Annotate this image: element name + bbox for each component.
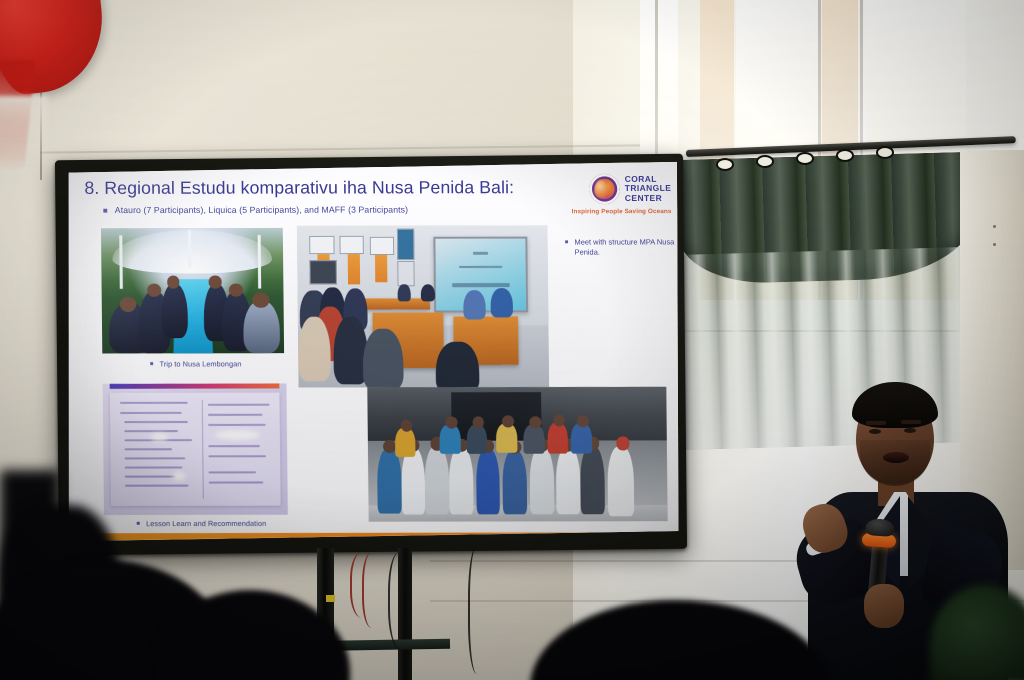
meeting-attendee — [363, 329, 404, 387]
side-note: ■ Meet with structure MPA Nusa Penida. — [565, 237, 681, 257]
notes-caption-text: Lesson Learn and Recommendation — [146, 519, 266, 528]
logo-tagline: Inspiring People Saving Oceans — [572, 208, 672, 215]
power-cable-black — [388, 552, 416, 648]
notes-line — [124, 475, 175, 477]
caption-bullet-icon: ■ — [136, 521, 140, 527]
notes-column-divider — [201, 400, 203, 499]
wall-poster — [340, 235, 365, 253]
group-member — [502, 450, 527, 515]
slide-accent-bar — [66, 532, 681, 540]
group-member-head — [445, 417, 457, 429]
wall-mark-1 — [993, 225, 996, 228]
group-member — [377, 449, 402, 514]
group-member-back-row — [571, 423, 592, 454]
wall-poster — [370, 237, 395, 255]
presenter-beard — [860, 440, 930, 486]
curtain-ring — [836, 149, 854, 162]
tv-bezel: 8. Regional Estudu komparativu iha Nusa … — [55, 154, 687, 556]
presentation-room-photo: 8. Regional Estudu komparativu iha Nusa … — [0, 0, 1024, 680]
notes-line — [124, 421, 188, 423]
boat-passenger-head — [167, 276, 180, 289]
notes-line — [124, 430, 178, 432]
notes-glare — [172, 472, 186, 481]
curtain-ring — [716, 158, 734, 171]
notes-line — [209, 455, 267, 457]
boat-passenger-head — [253, 293, 270, 308]
notes-line — [208, 414, 262, 416]
boat-caption-text: Trip to Nusa Lembongan — [160, 359, 242, 368]
side-note-text: Meet with structure MPA Nusa Penida. — [574, 237, 680, 257]
group-member — [607, 446, 635, 516]
group-member — [580, 446, 605, 515]
group-member-back-row — [496, 423, 517, 453]
notes-line — [124, 448, 171, 450]
projector-content-line — [473, 252, 487, 255]
notes-line — [120, 402, 188, 404]
meeting-attendee — [463, 290, 486, 319]
group-member — [556, 447, 581, 514]
group-member-head — [400, 419, 412, 431]
curtain-ring — [796, 152, 814, 165]
meeting-attendee — [398, 284, 411, 302]
group-member-back-row — [395, 428, 416, 458]
group-member-head — [577, 415, 589, 427]
curtain-ring — [876, 146, 894, 159]
meeting-room-photo — [297, 225, 549, 387]
notes-line — [124, 457, 185, 459]
presenter-eye-right — [904, 428, 916, 433]
presenter-brow-left — [866, 421, 886, 425]
boat-pole — [119, 236, 123, 289]
handwritten-notes-photo — [103, 383, 288, 515]
coral-triangle-center-logo: CORAL TRIANGLE CENTER — [589, 174, 671, 204]
power-cable-black — [468, 546, 490, 674]
slide-bullet-text: Atauro (7 Participants), Liquica (5 Part… — [115, 203, 408, 216]
presenter-hair — [852, 382, 938, 428]
meeting-attendee — [436, 342, 479, 388]
group-member — [476, 449, 501, 515]
wall-poster — [310, 260, 337, 285]
group-member — [401, 448, 426, 515]
notes-photo-caption: ■ Lesson Learn and Recommendation — [136, 519, 266, 528]
boat-passenger — [244, 301, 281, 354]
wall-poster — [310, 235, 335, 253]
notes-line — [208, 404, 269, 406]
notes-line — [209, 472, 256, 474]
group-member-back-row — [547, 422, 568, 454]
group-member-head — [553, 414, 565, 426]
boat-trip-photo — [101, 228, 284, 354]
wall-mark-2 — [993, 243, 996, 246]
presentation-slide: 8. Regional Estudu komparativu iha Nusa … — [65, 163, 681, 541]
coral-logo-mark-icon — [589, 174, 620, 204]
group-member-back-row — [466, 425, 487, 455]
boat-photo-caption: ■ Trip to Nusa Lembongan — [150, 359, 242, 368]
group-member — [449, 448, 474, 515]
curtain-ring — [756, 155, 774, 168]
notes-photo-topbar — [110, 383, 279, 388]
flag-white-band — [0, 96, 48, 166]
power-cable-red — [362, 552, 386, 628]
notes-line — [125, 484, 189, 486]
boat-pole — [188, 231, 191, 269]
bullet-dot-icon: ■ — [103, 204, 108, 217]
tv-display[interactable]: 8. Regional Estudu komparativu iha Nusa … — [55, 154, 687, 556]
boat-pole — [257, 235, 261, 288]
notes-line — [209, 445, 260, 447]
projector-content-line — [452, 283, 510, 287]
tv-stand-label — [326, 595, 335, 602]
presenter-eye-left — [869, 429, 881, 434]
group-member — [529, 447, 554, 514]
boat-passenger — [162, 283, 188, 338]
group-member-back-row — [523, 425, 544, 455]
projector-content-line — [459, 266, 502, 268]
boat-canopy — [112, 230, 272, 273]
meeting-attendee — [490, 289, 513, 318]
flipchart-sheet — [110, 393, 280, 506]
notes-line — [124, 466, 182, 468]
group-member — [425, 446, 450, 515]
boat-passenger-head — [209, 276, 222, 289]
notes-glare — [215, 430, 259, 440]
tv-screen: 8. Regional Estudu komparativu iha Nusa … — [65, 162, 681, 541]
slide-title: 8. Regional Estudu komparativu iha Nusa … — [84, 177, 662, 199]
group-member-head — [383, 440, 396, 453]
presenter-mouth — [883, 452, 909, 463]
presenter-brow-right — [901, 420, 921, 424]
group-member-head — [616, 437, 630, 450]
note-bullet-icon: ■ — [565, 238, 569, 248]
group-photo — [367, 387, 667, 522]
group-member-back-row — [439, 425, 460, 455]
notes-line — [209, 482, 263, 484]
wall-poster — [397, 229, 414, 260]
wall-poster — [397, 261, 414, 286]
notes-line — [208, 424, 266, 426]
caption-bullet-icon: ■ — [150, 361, 154, 367]
notes-line — [120, 412, 181, 414]
logo-line-3: CENTER — [625, 193, 672, 202]
group-member-head — [502, 415, 514, 427]
presenter-hand-right — [864, 584, 904, 628]
group-member-head — [529, 417, 541, 429]
